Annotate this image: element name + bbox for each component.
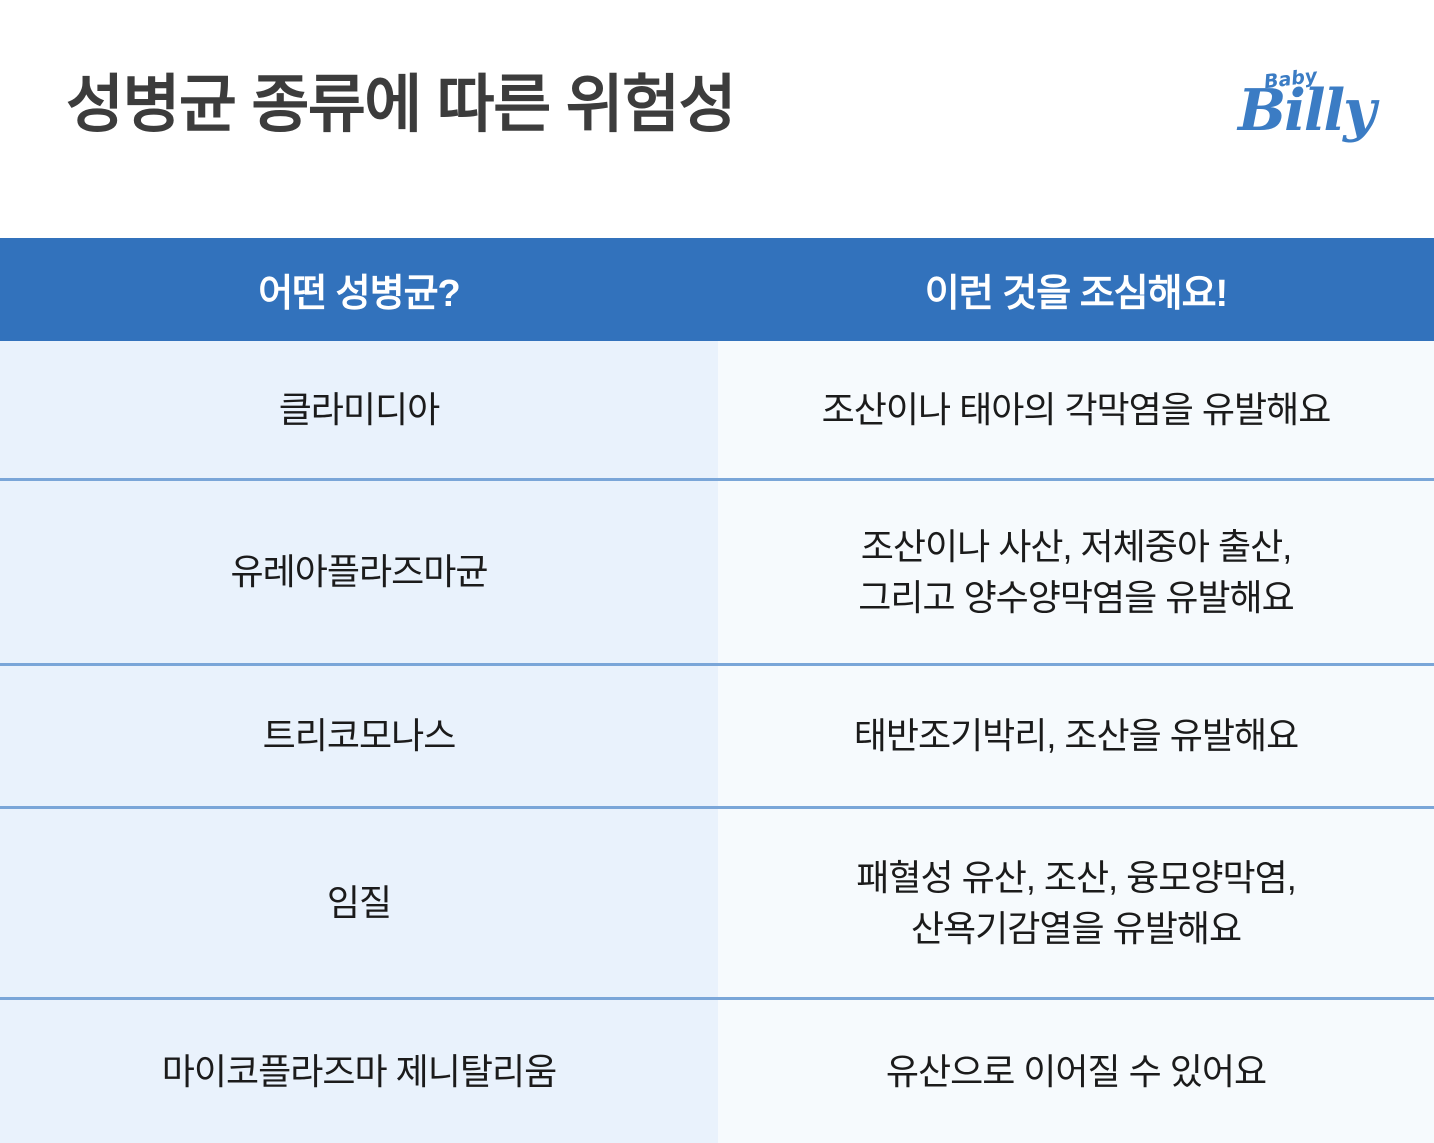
risk-line: 태반조기박리, 조산을 유발해요 xyxy=(736,710,1416,761)
table-row: 트리코모나스 태반조기박리, 조산을 유발해요 xyxy=(0,665,1434,808)
column-header-risk: 이런 것을 조심해요! xyxy=(718,238,1434,341)
cell-pathogen: 임질 xyxy=(0,808,718,999)
risk-line: 조산이나 사산, 저체중아 출산, xyxy=(736,521,1416,572)
cell-risk: 패혈성 유산, 조산, 융모양막염, 산욕기감열을 유발해요 xyxy=(718,808,1434,999)
risk-line: 조산이나 태아의 각막염을 유발해요 xyxy=(736,384,1416,435)
brand-logo: Baby Billy xyxy=(1238,66,1378,158)
column-header-pathogen: 어떤 성병균? xyxy=(0,238,718,341)
risk-line: 유산으로 이어질 수 있어요 xyxy=(736,1046,1416,1097)
table-row: 임질 패혈성 유산, 조산, 융모양막염, 산욕기감열을 유발해요 xyxy=(0,808,1434,999)
page-header: 성병균 종류에 따른 위험성 Baby Billy xyxy=(0,0,1434,238)
brand-logo-billy-text: Billy xyxy=(1238,82,1374,139)
table-row: 마이코플라즈마 제니탈리움 유산으로 이어질 수 있어요 xyxy=(0,999,1434,1143)
page-title: 성병균 종류에 따른 위험성 xyxy=(66,72,735,138)
table-header: 어떤 성병균? 이런 것을 조심해요! xyxy=(0,238,1434,341)
cell-risk: 조산이나 태아의 각막염을 유발해요 xyxy=(718,341,1434,480)
cell-pathogen: 마이코플라즈마 제니탈리움 xyxy=(0,999,718,1143)
cell-pathogen: 유레아플라즈마균 xyxy=(0,480,718,665)
pathogen-risk-table: 어떤 성병균? 이런 것을 조심해요! 클라미디아 조산이나 태아의 각막염을 … xyxy=(0,238,1434,1143)
cell-pathogen: 트리코모나스 xyxy=(0,665,718,808)
table-row: 클라미디아 조산이나 태아의 각막염을 유발해요 xyxy=(0,341,1434,480)
table-body: 클라미디아 조산이나 태아의 각막염을 유발해요 유레아플라즈마균 조산이나 사… xyxy=(0,341,1434,1143)
cell-risk: 유산으로 이어질 수 있어요 xyxy=(718,999,1434,1143)
cell-pathogen: 클라미디아 xyxy=(0,341,718,480)
cell-risk: 조산이나 사산, 저체중아 출산, 그리고 양수양막염을 유발해요 xyxy=(718,480,1434,665)
risk-line: 산욕기감열을 유발해요 xyxy=(736,903,1416,954)
cell-risk: 태반조기박리, 조산을 유발해요 xyxy=(718,665,1434,808)
table-header-row: 어떤 성병균? 이런 것을 조심해요! xyxy=(0,238,1434,341)
page-root: 성병균 종류에 따른 위험성 Baby Billy 어떤 성병균? 이런 것을 … xyxy=(0,0,1434,1131)
risk-line: 그리고 양수양막염을 유발해요 xyxy=(736,572,1416,623)
risk-line: 패혈성 유산, 조산, 융모양막염, xyxy=(736,852,1416,903)
table-row: 유레아플라즈마균 조산이나 사산, 저체중아 출산, 그리고 양수양막염을 유발… xyxy=(0,480,1434,665)
